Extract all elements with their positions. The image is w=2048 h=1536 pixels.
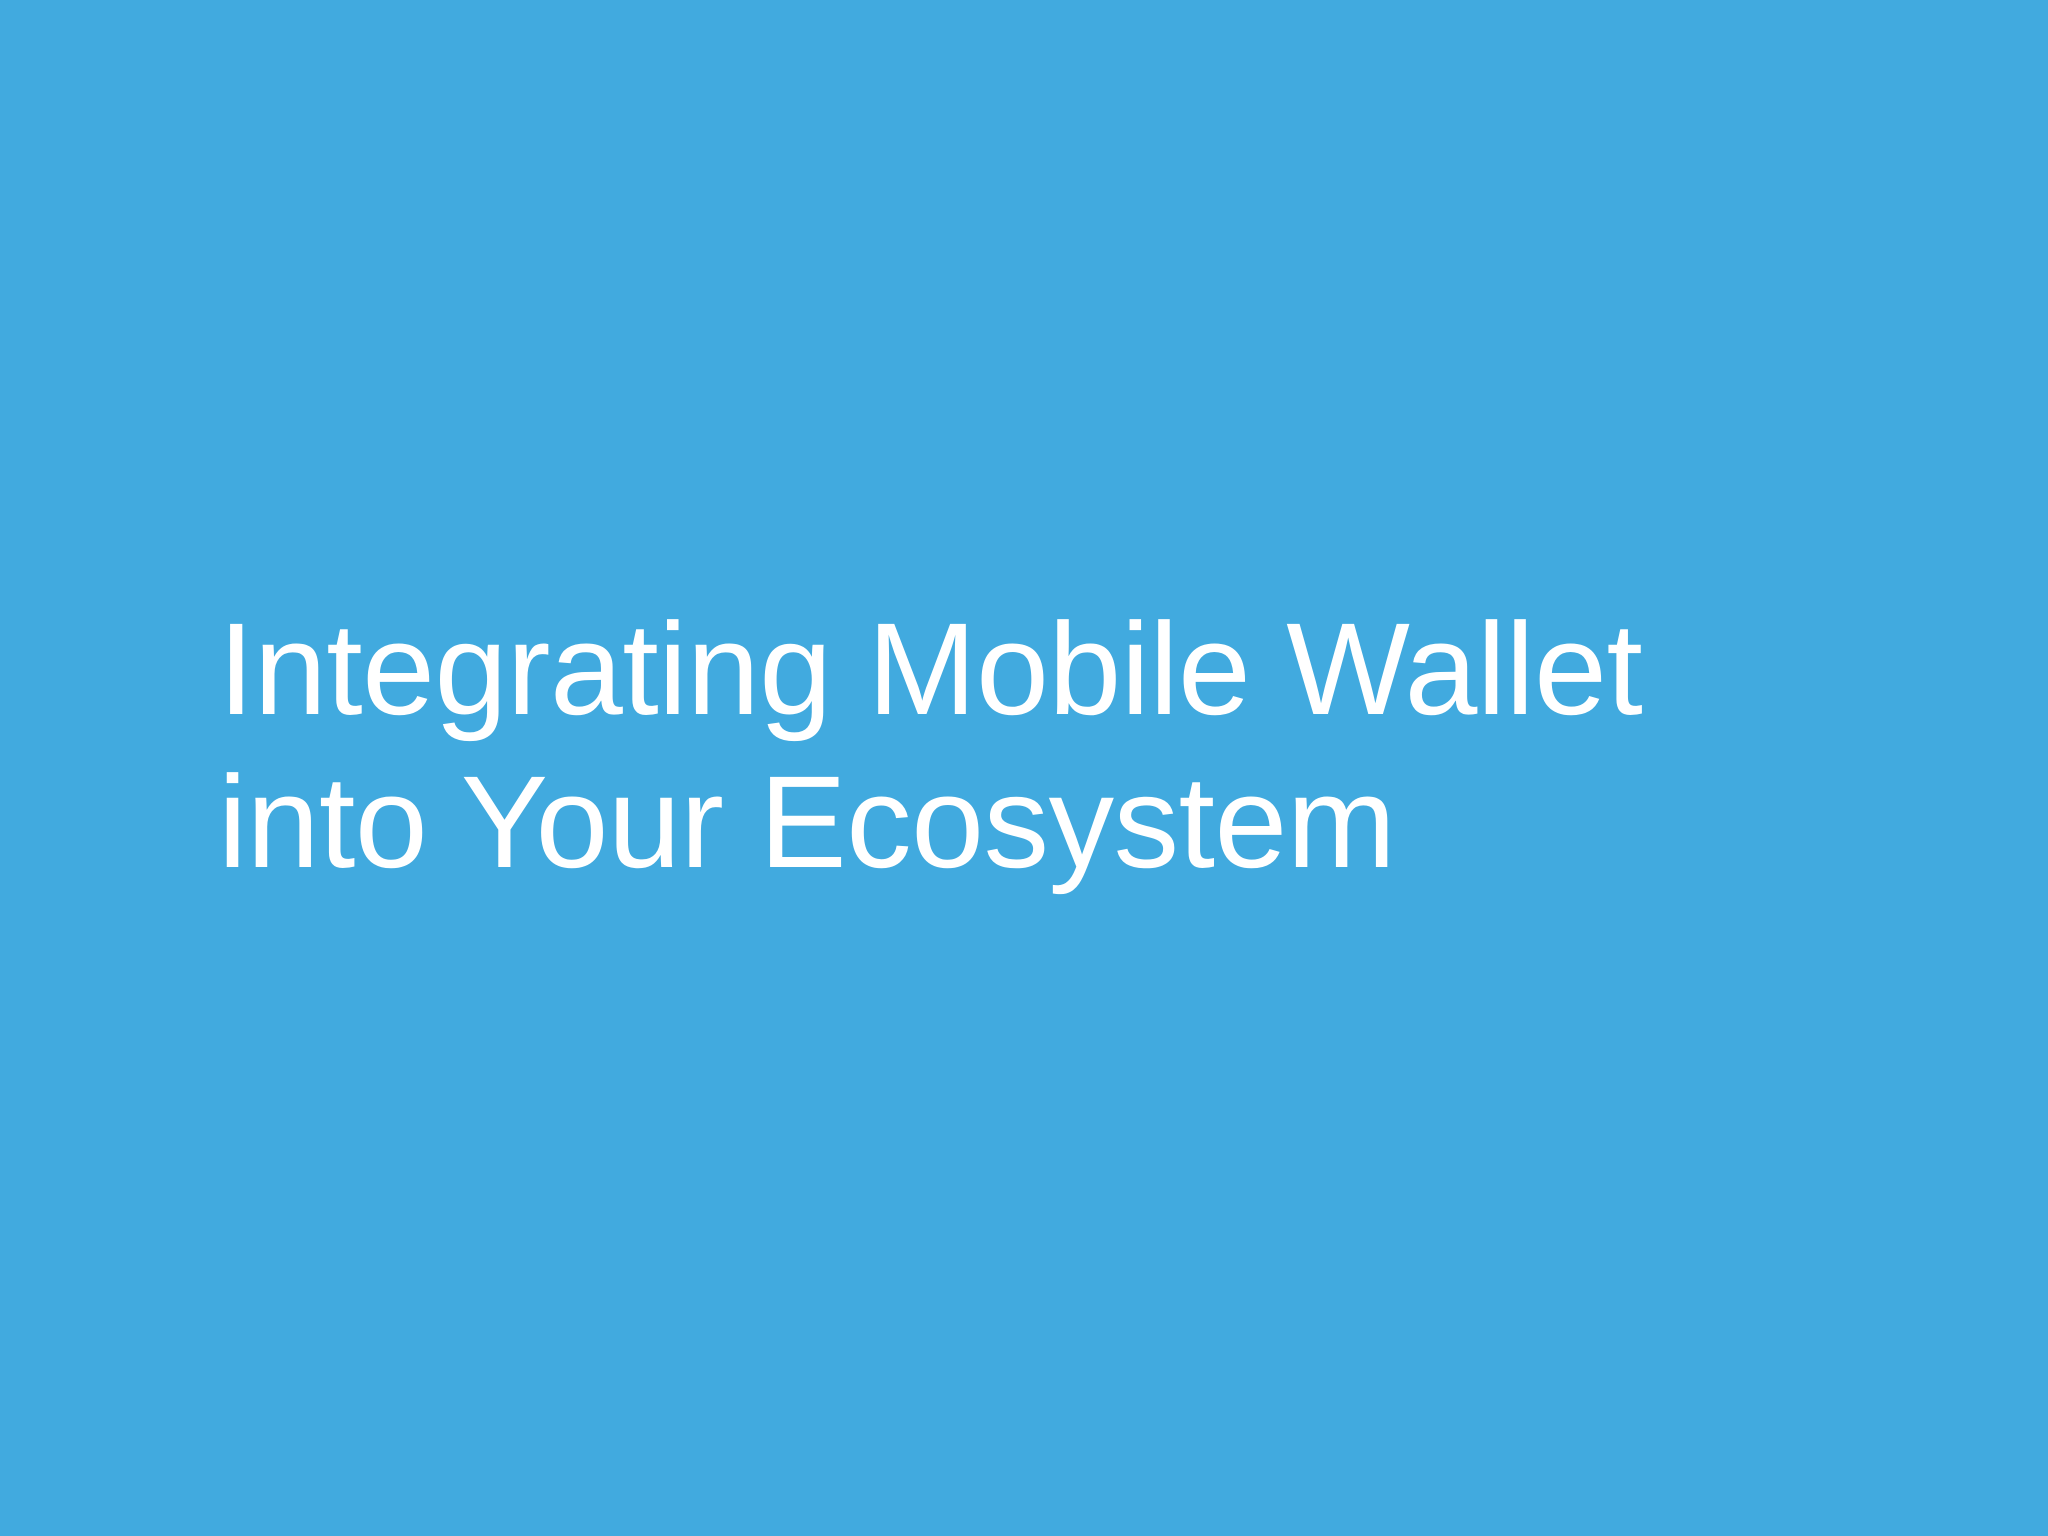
slide-title-line-1: Integrating Mobile Wallet bbox=[218, 592, 1858, 745]
presentation-slide: Integrating Mobile Wallet into Your Ecos… bbox=[0, 0, 2048, 1536]
slide-title-block: Integrating Mobile Wallet into Your Ecos… bbox=[218, 592, 1858, 898]
slide-title-line-2: into Your Ecosystem bbox=[218, 745, 1858, 898]
